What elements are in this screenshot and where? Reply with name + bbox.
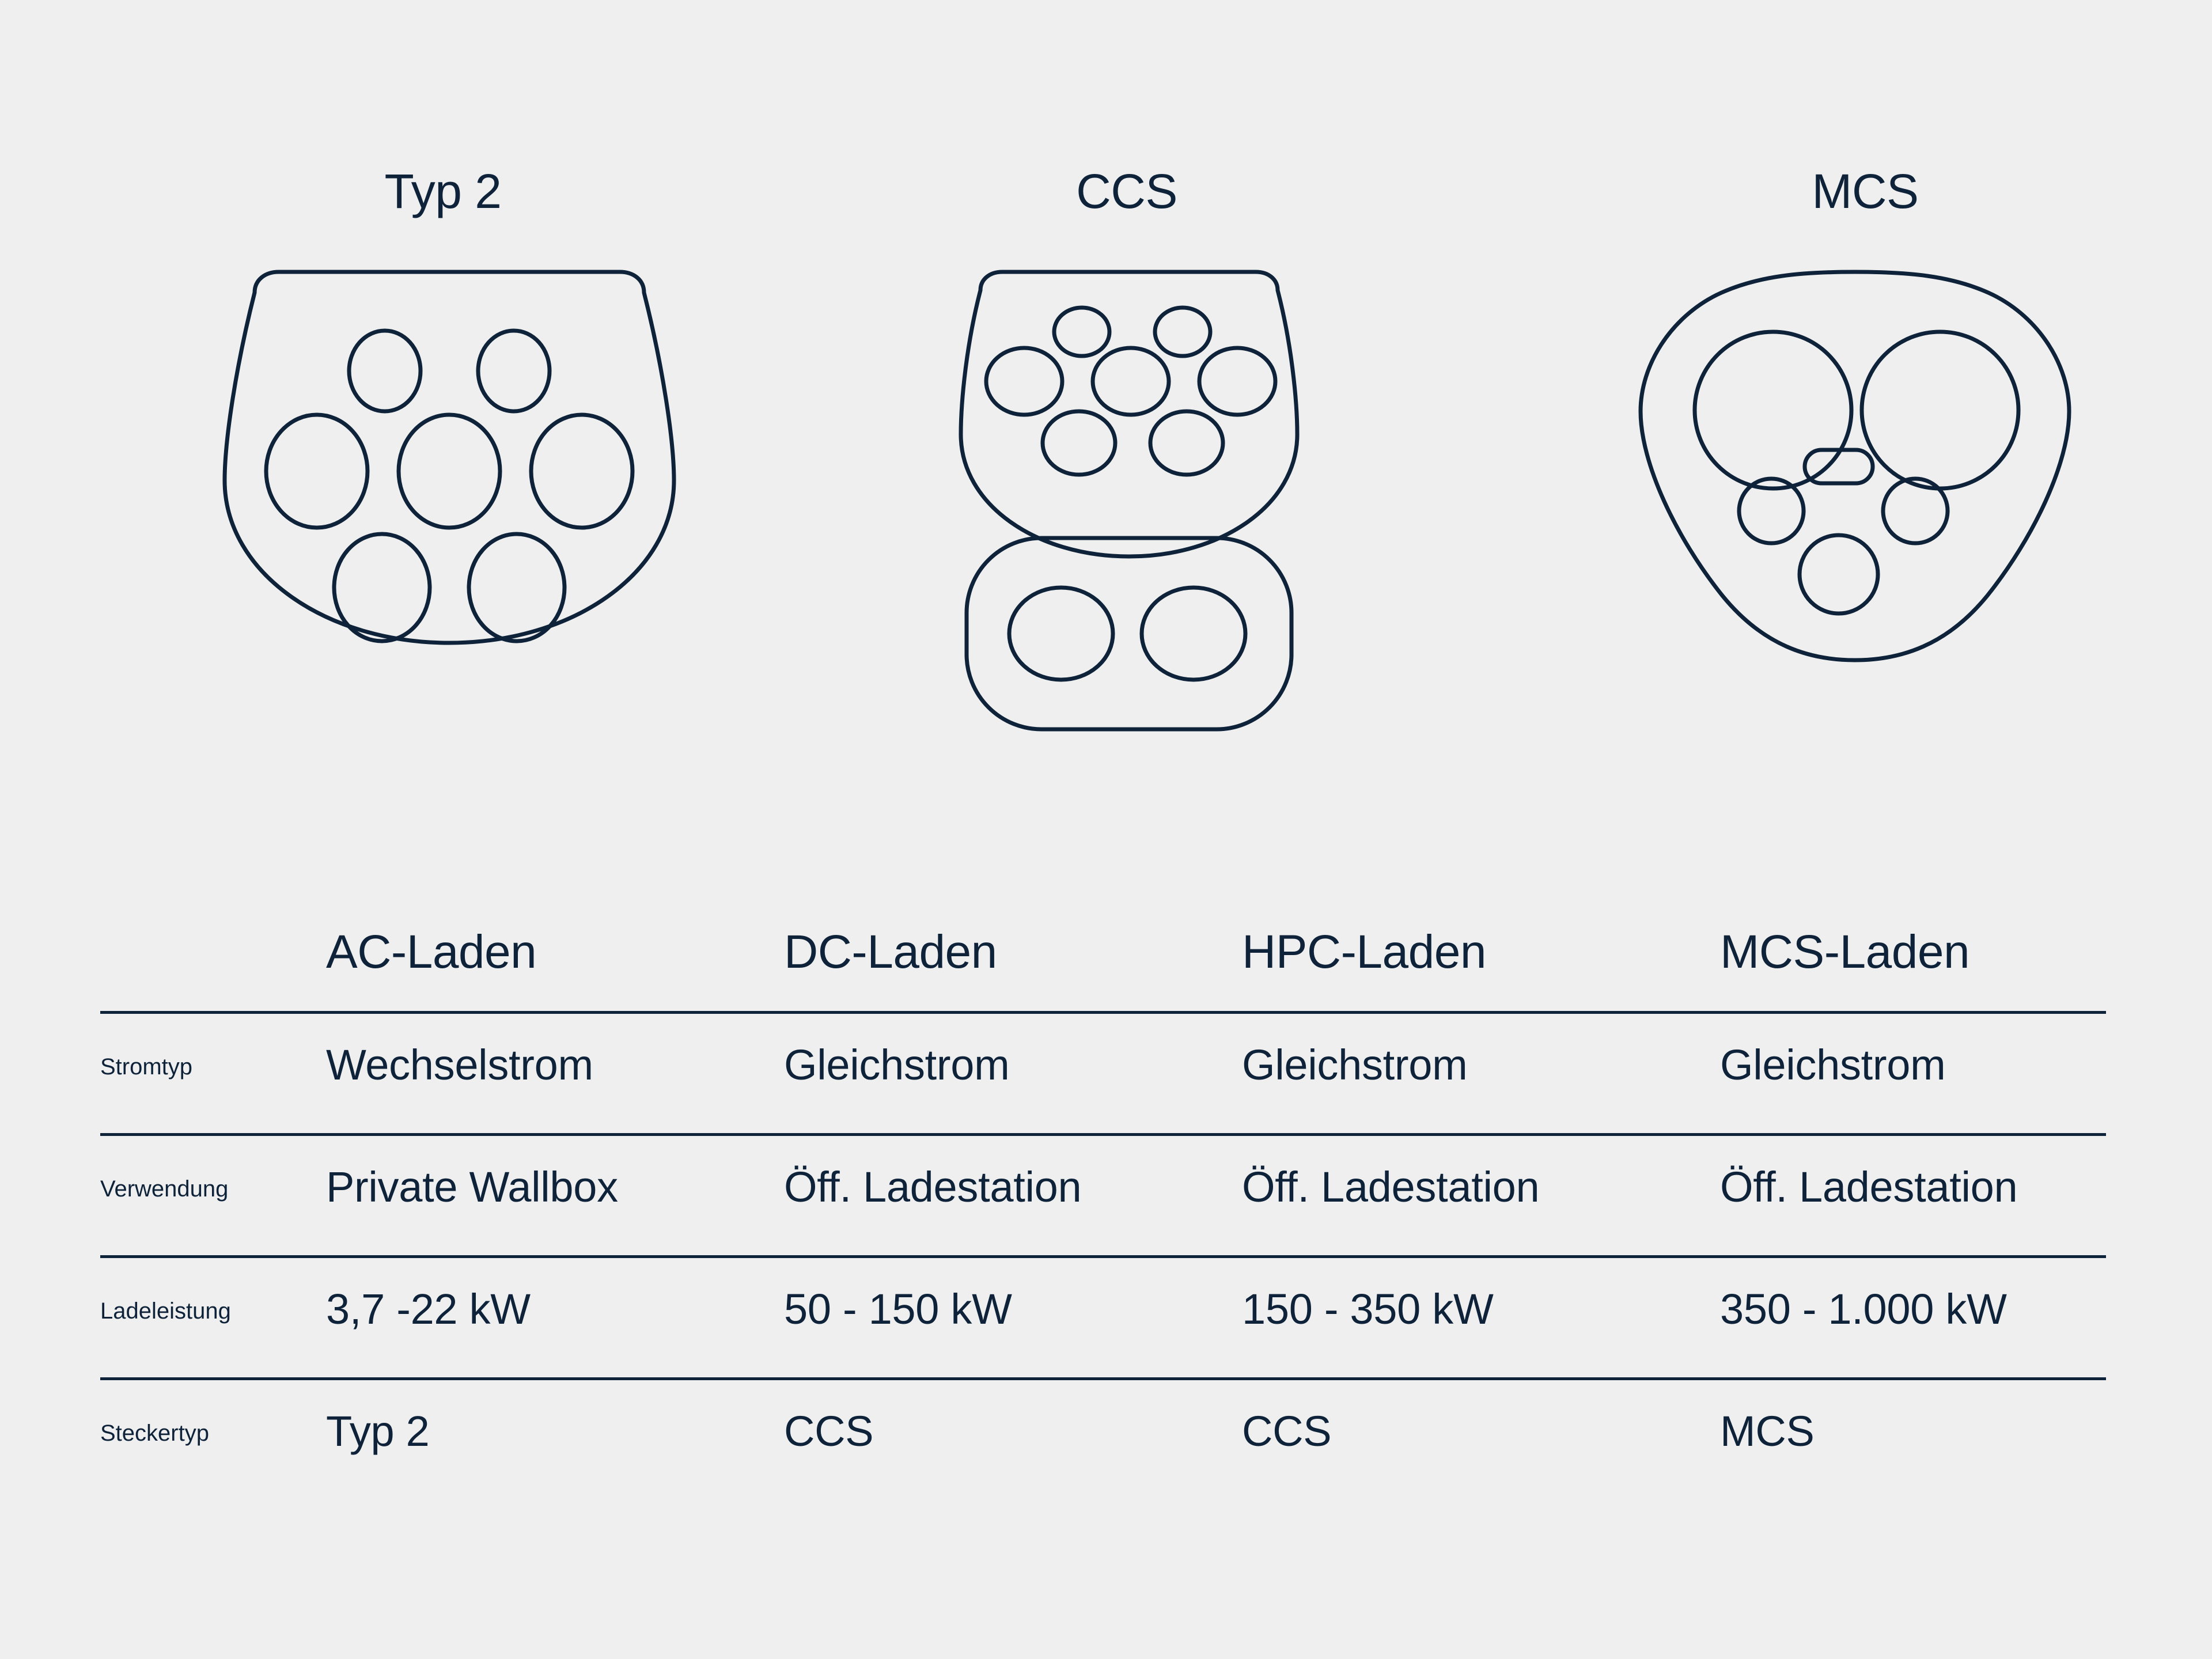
cell-value: 150 - 350 kW — [1242, 1258, 1720, 1331]
row-label-cell: Steckertyp — [100, 1380, 326, 1445]
row-label-cell: Ladeleistung — [100, 1258, 326, 1323]
row-label: Steckertyp — [100, 1380, 326, 1445]
column-header-label: HPC-Laden — [1242, 899, 1720, 976]
connector-card-ccs: CCS — [916, 0, 1342, 734]
column-header-ac: AC-Laden — [326, 899, 784, 976]
table-cell: Öff. Ladestation — [1720, 1136, 2106, 1209]
cell-value: Wechselstrom — [326, 1014, 784, 1086]
table-cell: Private Wallbox — [326, 1136, 784, 1209]
table-cell: 150 - 350 kW — [1242, 1258, 1720, 1331]
row-label: Ladeleistung — [100, 1258, 326, 1323]
table-cell: Öff. Ladestation — [1242, 1136, 1720, 1209]
table-cell: 3,7 -22 kW — [326, 1258, 784, 1331]
column-header-hpc: HPC-Laden — [1242, 899, 1720, 976]
table-cell: Gleichstrom — [1720, 1014, 2106, 1086]
cell-value: Private Wallbox — [326, 1136, 784, 1209]
connector-card-type2: Typ 2 — [219, 0, 680, 647]
table-cell: Gleichstrom — [784, 1014, 1242, 1086]
row-label: Stromtyp — [100, 1014, 326, 1078]
type2-connector-icon — [219, 267, 680, 647]
connector-title-ccs: CCS — [1076, 167, 1177, 215]
mcs-connector-icon — [1636, 267, 2074, 665]
table-cell: CCS — [1242, 1380, 1720, 1453]
table-header-row: AC-Laden DC-Laden HPC-Laden MCS-Laden — [100, 899, 2106, 1014]
connector-gallery: Typ 2 CCS — [0, 0, 2212, 818]
row-label: Verwendung — [100, 1136, 326, 1200]
row-label-cell: Stromtyp — [100, 1014, 326, 1078]
connector-title-mcs: MCS — [1812, 167, 1918, 215]
cell-value: CCS — [784, 1380, 1242, 1453]
row-label-cell: Verwendung — [100, 1136, 326, 1200]
table-cell: Typ 2 — [326, 1380, 784, 1453]
connector-card-mcs: MCS — [1607, 0, 2103, 665]
cell-value: CCS — [1242, 1380, 1720, 1453]
cell-value: MCS — [1720, 1380, 2106, 1453]
table-cell: 350 - 1.000 kW — [1720, 1258, 2106, 1331]
column-header-dc: DC-Laden — [784, 899, 1242, 976]
column-header-label: DC-Laden — [784, 899, 1242, 976]
table-row: Verwendung Private Wallbox Öff. Ladestat… — [100, 1136, 2106, 1258]
column-header-label: MCS-Laden — [1720, 899, 2106, 976]
column-header-label: AC-Laden — [326, 899, 784, 976]
cell-value: Öff. Ladestation — [1720, 1136, 2106, 1209]
cell-value: Gleichstrom — [1242, 1014, 1720, 1086]
table-cell: CCS — [784, 1380, 1242, 1453]
cell-value: 50 - 150 kW — [784, 1258, 1242, 1331]
table-cell: Gleichstrom — [1242, 1014, 1720, 1086]
table-row: Stromtyp Wechselstrom Gleichstrom Gleich… — [100, 1014, 2106, 1136]
table-cell: Öff. Ladestation — [784, 1136, 1242, 1209]
table-cell: Wechselstrom — [326, 1014, 784, 1086]
table-cell: MCS — [1720, 1380, 2106, 1453]
page-root: Typ 2 CCS — [0, 0, 2212, 1659]
table-cell: 50 - 150 kW — [784, 1258, 1242, 1331]
cell-value: Typ 2 — [326, 1380, 784, 1453]
cell-value: 3,7 -22 kW — [326, 1258, 784, 1331]
cell-value: Gleichstrom — [784, 1014, 1242, 1086]
cell-value: Gleichstrom — [1720, 1014, 2106, 1086]
table-row: Steckertyp Typ 2 CCS CCS MCS — [100, 1380, 2106, 1495]
ccs-connector-icon — [956, 267, 1302, 734]
table-row: Ladeleistung 3,7 -22 kW 50 - 150 kW 150 … — [100, 1258, 2106, 1380]
column-header-mcs: MCS-Laden — [1720, 899, 2106, 976]
comparison-table: AC-Laden DC-Laden HPC-Laden MCS-Laden St… — [100, 899, 2106, 1495]
cell-value: 350 - 1.000 kW — [1720, 1258, 2106, 1331]
connector-title-type2: Typ 2 — [385, 167, 502, 215]
cell-value: Öff. Ladestation — [1242, 1136, 1720, 1209]
cell-value: Öff. Ladestation — [784, 1136, 1242, 1209]
